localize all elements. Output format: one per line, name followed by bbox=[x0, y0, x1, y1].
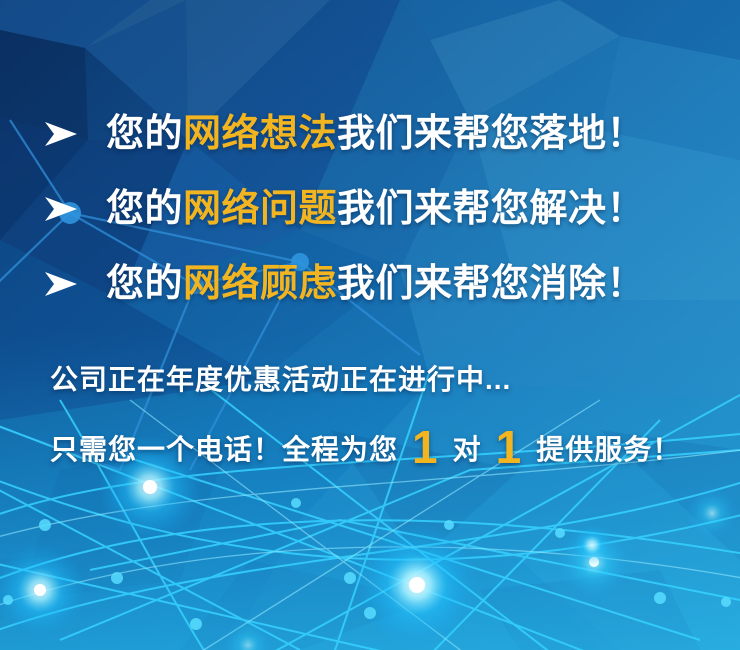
headline-suffix-2: 我们来帮您解决！ bbox=[337, 188, 645, 230]
headline-text-2: 您的网络问题我们来帮您解决！ bbox=[106, 190, 645, 228]
headline-row-1: 您的网络想法我们来帮您落地！ bbox=[0, 96, 740, 171]
headline-highlight-3: 网络顾虑 bbox=[183, 263, 337, 305]
arrow-right-triangle-icon bbox=[44, 196, 78, 222]
subline-2-part2: 提供服务！ bbox=[536, 434, 681, 465]
headline-prefix-1: 您的 bbox=[106, 113, 183, 155]
headline-highlight-2: 网络问题 bbox=[183, 188, 337, 230]
service-number-one-second: 1 bbox=[491, 421, 528, 473]
headline-list: 您的网络想法我们来帮您落地！ 您的网络问题我们来帮您解决！ 您的网络顾虑我们来帮… bbox=[0, 96, 740, 321]
headline-highlight-1: 网络想法 bbox=[183, 113, 337, 155]
subline-2-part1: 只需您一个电话！全程为您 bbox=[50, 434, 398, 465]
headline-suffix-1: 我们来帮您落地！ bbox=[337, 113, 645, 155]
headline-suffix-3: 我们来帮您消除！ bbox=[337, 263, 645, 305]
promo-subline-1: 公司正在年度优惠活动正在进行中... bbox=[50, 366, 511, 394]
headline-text-3: 您的网络顾虑我们来帮您消除！ bbox=[106, 265, 645, 303]
banner-content: 您的网络想法我们来帮您落地！ 您的网络问题我们来帮您解决！ 您的网络顾虑我们来帮… bbox=[0, 0, 740, 650]
headline-prefix-3: 您的 bbox=[106, 263, 183, 305]
headline-prefix-2: 您的 bbox=[106, 188, 183, 230]
service-number-one-first: 1 bbox=[407, 421, 444, 473]
arrow-right-triangle-icon bbox=[44, 121, 78, 147]
promo-banner: 您的网络想法我们来帮您落地！ 您的网络问题我们来帮您解决！ 您的网络顾虑我们来帮… bbox=[0, 0, 740, 650]
promo-subline-2: 只需您一个电话！全程为您1对1提供服务！ bbox=[50, 436, 681, 464]
headline-text-1: 您的网络想法我们来帮您落地！ bbox=[106, 115, 645, 153]
headline-row-2: 您的网络问题我们来帮您解决！ bbox=[0, 171, 740, 246]
headline-row-3: 您的网络顾虑我们来帮您消除！ bbox=[0, 246, 740, 321]
arrow-right-triangle-icon bbox=[44, 271, 78, 297]
subline-2-middle: 对 bbox=[453, 434, 482, 465]
